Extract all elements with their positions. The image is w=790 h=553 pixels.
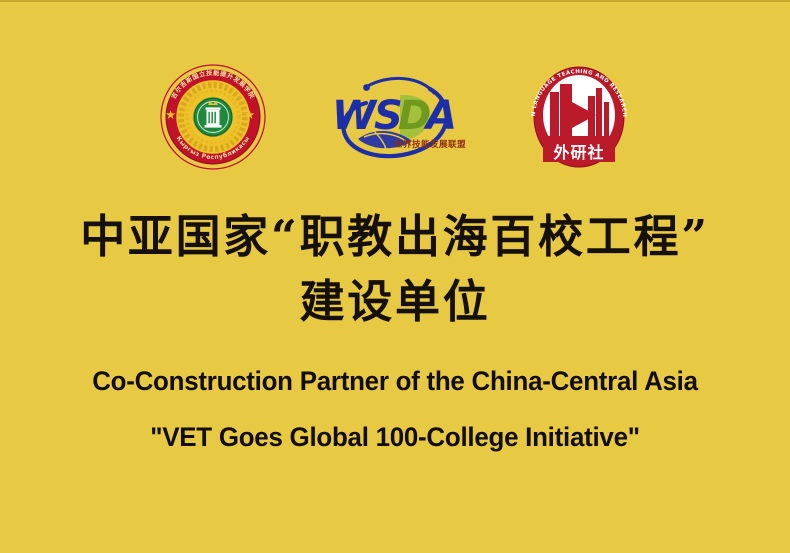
logo-row: 吉尔吉斯国立技能提升发展学院 Кыргыз Республикасы 吉尔吉斯国… <box>0 58 790 176</box>
subtitle-block: Co-Construction Partner of the China-Cen… <box>0 368 790 451</box>
svg-text:A: A <box>423 93 457 139</box>
svg-text:外研社: 外研社 <box>552 143 604 162</box>
logo-kyrgyz-state-university: 吉尔吉斯国立技能提升发展学院 Кыргыз Республикасы 吉尔吉斯国… <box>158 62 268 172</box>
headline-block: 中亚国家“职教出海百校工程” 建设单位 <box>0 214 790 324</box>
logo-wsda: W S D A 世界技能发展联盟 WSDA 世界技能发展联盟 <box>322 65 472 169</box>
logo-fltrp: 外研社 FOREIGN LANGUAGE TEACHING AND RESEAR… <box>526 62 632 172</box>
certificate-banner: 吉尔吉斯国立技能提升发展学院 Кыргыз Республикасы 吉尔吉斯国… <box>0 0 790 553</box>
subtitle-english-line-1: Co-Construction Partner of the China-Cen… <box>16 368 774 395</box>
subtitle-english-line-2: "VET Goes Global 100-College Initiative" <box>16 424 774 451</box>
headline-chinese-line-1: 中亚国家“职教出海百校工程” <box>0 214 790 259</box>
fltrp-logo-icon: 外研社 FOREIGN LANGUAGE TEACHING AND RESEAR… <box>526 62 632 172</box>
kyrgyz-state-university-emblem-icon: 吉尔吉斯国立技能提升发展学院 Кыргыз Республикасы <box>158 62 268 172</box>
headline-chinese-line-2: 建设单位 <box>0 279 790 324</box>
svg-text:世界技能发展联盟: 世界技能发展联盟 <box>394 138 466 150</box>
svg-text:W: W <box>332 93 378 139</box>
wsda-logo-icon: W S D A 世界技能发展联盟 <box>322 65 472 169</box>
